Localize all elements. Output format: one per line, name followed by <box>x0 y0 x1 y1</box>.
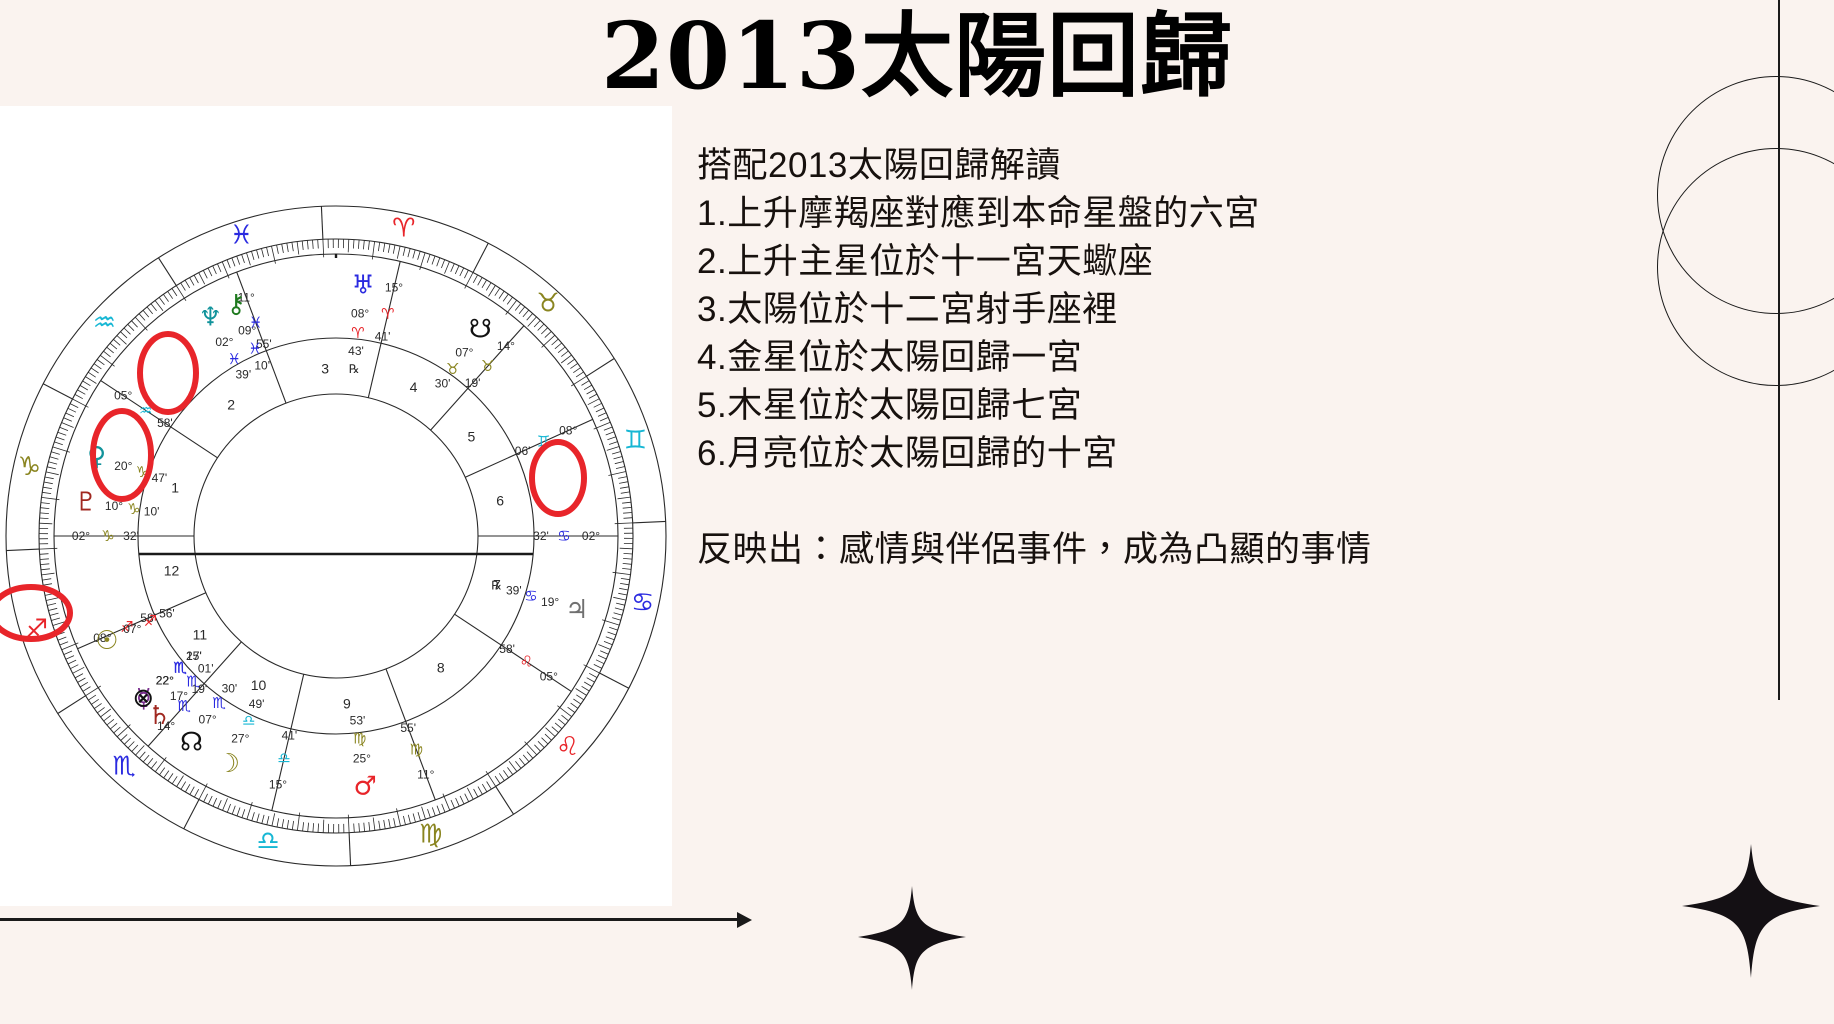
planet-degree-mars: 25° <box>353 752 371 766</box>
planet-degree-south-node: 07° <box>455 345 473 359</box>
natal-wheel-svg: .ln{stroke:#2a2a2a;fill:none;stroke-widt… <box>0 106 672 906</box>
cusp-degree: 05° <box>114 389 132 403</box>
planet-minute-mars: 53' <box>350 714 366 728</box>
zodiac-glyph-outer: ♑ <box>18 452 41 482</box>
cusp-minute: 58' <box>499 642 515 656</box>
cusp-minute: 32' <box>533 529 549 543</box>
zodiac-glyph-outer: ♍ <box>419 819 442 849</box>
cusp-sign-glyph: ♑ <box>101 527 114 545</box>
house-number: 11 <box>193 627 208 643</box>
planet-degree-venus: 20° <box>114 459 132 473</box>
planet-glyph-north-node: ☊ <box>180 728 203 758</box>
house-number: 5 <box>468 429 476 445</box>
planet-minute-north-node: 30' <box>222 681 238 695</box>
zodiac-glyph-outer: ♋ <box>631 588 654 618</box>
planet-glyph-chiron: ⚷ <box>227 290 246 320</box>
zodiac-glyph-outer: ♊ <box>624 425 647 455</box>
cusp-degree: 05° <box>540 670 558 684</box>
cusp-minute: 32' <box>123 529 139 543</box>
cusp-degree: 11° <box>417 768 434 782</box>
cusp-sign-glyph: ♉ <box>481 357 494 375</box>
planet-sign-neptune: ♓ <box>228 350 241 368</box>
axis-lines <box>139 254 533 554</box>
planet-minute-moon: 49' <box>249 697 265 711</box>
planet-degree-uranus: 08° <box>351 306 369 320</box>
planet-minute-chiron: 10' <box>254 358 270 372</box>
house-number: 6 <box>496 492 504 508</box>
cusp-degree: 14° <box>497 339 515 353</box>
house-number: 1 <box>171 480 179 496</box>
arrow-divider <box>0 918 738 921</box>
planet-minute-part-of-fortune: 25' <box>186 649 202 663</box>
page-title: 2013太陽回歸 <box>0 6 1834 106</box>
text-heading: 搭配2013太陽回歸解讀 <box>697 142 1807 190</box>
house-number: 2 <box>227 397 235 413</box>
cusp-degree: 15° <box>385 281 403 295</box>
planet-sign-moon: ♎ <box>242 712 255 730</box>
planet-minute-neptune: 39' <box>235 368 251 382</box>
planet-minute-south-node: 30' <box>435 377 451 391</box>
saturn-highlight <box>140 334 196 412</box>
cusp-minute: 06' <box>515 444 531 458</box>
planet-glyph-uranus: ♅ <box>351 271 374 301</box>
jupiter-highlight <box>532 442 584 514</box>
cusp-sign-glyph: ♈ <box>381 305 394 323</box>
cusp-sign-glyph: ♎ <box>277 749 290 767</box>
text-conclusion: 反映出：感情與伴侶事件，成為凸顯的事情 <box>697 526 1807 574</box>
text-item-3: 3.太陽位於十二宮射手座裡 <box>697 286 1807 334</box>
cusp-sign-glyph: ♍ <box>410 740 423 758</box>
red-annotations <box>0 334 584 639</box>
cusp-sign-glyph: ♋ <box>557 527 570 545</box>
planet-degree-north-node: 07° <box>199 713 217 727</box>
cusp-degree: 15° <box>269 777 287 791</box>
planet-retrograde-jupiter: ℞ <box>491 578 502 592</box>
planet-sign-uranus: ♈ <box>351 324 364 342</box>
zodiac-glyph-outer: ♎ <box>257 827 280 857</box>
slide-root: 2013太陽回歸 .ln{stroke:#2a2a2a;fill:none;st… <box>0 0 1834 1024</box>
house-number: 10 <box>251 677 267 693</box>
text-item-5: 5.木星位於太陽回歸七宮 <box>697 382 1807 430</box>
planet-sign-north-node: ♏ <box>212 694 226 712</box>
planet-degree-saturn: 17° <box>170 689 188 703</box>
zodiac-glyph-outer: ♌ <box>556 732 579 762</box>
sparkle-large-icon <box>1676 838 1826 988</box>
planet-sign-sun: ♐ <box>144 612 157 630</box>
text-item-6: 6.月亮位於太陽回歸的十宮 <box>697 430 1807 478</box>
cusp-minute: 19' <box>465 376 481 390</box>
planet-minute-uranus: 43' <box>348 344 364 358</box>
cusp-degree: 02° <box>72 529 90 543</box>
planet-sign-pluto: ♑ <box>127 500 140 518</box>
planet-degree-part-of-fortune: 22° <box>156 673 174 687</box>
planet-minute-saturn: 01' <box>198 662 214 676</box>
planet-degree-chiron: 09° <box>238 323 256 337</box>
planet-sign-south-node: ♉ <box>446 360 459 378</box>
planet-glyph-south-node: ☋ <box>469 315 492 345</box>
zodiac-glyph-outer: ♈ <box>392 213 415 243</box>
text-item-2: 2.上升主星位於十一宮天蠍座 <box>697 238 1807 286</box>
planet-sign-jupiter: ♋ <box>524 587 537 605</box>
planet-glyph-mars: ♂ <box>354 771 377 801</box>
cusp-minute: 58' <box>157 416 173 430</box>
cusp-minute: 55' <box>400 721 416 735</box>
planet-degree-neptune: 02° <box>215 335 233 349</box>
zodiac-glyph-outer: ♒ <box>93 308 116 338</box>
planet-degree-sun: 07° <box>123 622 141 636</box>
sparkle-small-icon <box>852 880 972 1000</box>
zodiac-glyph-outer: ♏ <box>112 752 135 782</box>
text-item-4: 4.金星位於太陽回歸一宮 <box>697 334 1807 382</box>
planet-glyph-part-of-fortune: ⊗ <box>132 683 154 713</box>
planet-glyph-pluto: ♇ <box>75 488 98 518</box>
zodiac-glyph-outer: ♓ <box>230 221 253 251</box>
text-spacer <box>697 478 1807 526</box>
cusp-degree: 08° <box>559 424 577 438</box>
planet-degree-moon: 27° <box>231 732 249 746</box>
planet-sign-mars: ♍ <box>353 730 366 748</box>
planet-sign-chiron: ♓ <box>248 340 261 358</box>
house-number: 3 <box>321 360 329 376</box>
cusp-minute: 41' <box>375 329 391 343</box>
astrology-chart-panel: .ln{stroke:#2a2a2a;fill:none;stroke-widt… <box>0 106 672 906</box>
planet-glyph-neptune: ♆ <box>199 303 222 333</box>
zodiac-glyph-outer: ♉ <box>536 288 559 318</box>
house-number: 12 <box>164 562 180 578</box>
text-item-1: 1.上升摩羯座對應到本命星盤的六宮 <box>697 190 1807 238</box>
explanation-text-block: 搭配2013太陽回歸解讀 1.上升摩羯座對應到本命星盤的六宮 2.上升主星位於十… <box>697 142 1807 574</box>
planet-minute-sun: 56' <box>159 606 175 620</box>
planet-minute-venus: 47' <box>152 471 168 485</box>
house-number: 4 <box>410 379 418 395</box>
house-number: 9 <box>343 696 351 712</box>
planet-retrograde-uranus: ℞ <box>349 362 360 376</box>
cusp-sign-glyph: ♌ <box>520 653 533 671</box>
cusp-minute: 41' <box>282 729 298 743</box>
cusp-degree: 02° <box>582 529 600 543</box>
planet-minute-pluto: 10' <box>144 504 160 518</box>
planet-glyph-moon: ☽ <box>217 749 240 779</box>
planet-glyph-sun: ☉ <box>95 626 118 656</box>
house-number: 8 <box>437 659 445 675</box>
planet-degree-jupiter: 19° <box>541 595 559 609</box>
planet-glyph-jupiter: ♃ <box>565 595 588 625</box>
planet-minute-jupiter: 39' <box>506 584 522 598</box>
